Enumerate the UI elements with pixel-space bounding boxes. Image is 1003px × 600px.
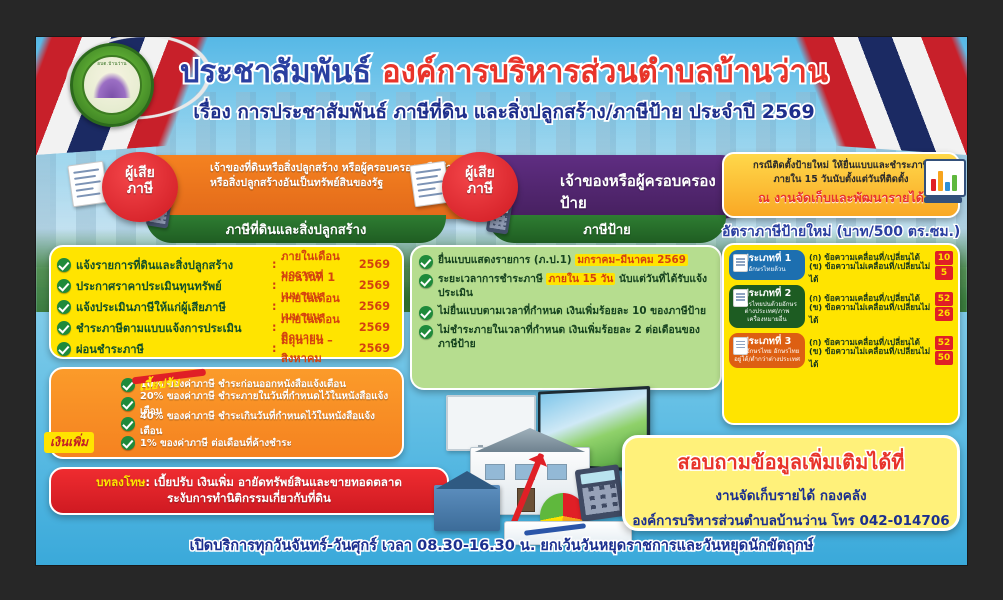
schedule-colon: : bbox=[272, 258, 281, 271]
schedule-row: ผ่อนชำระภาษี:มิถุนายน – สิงหาคม2569 bbox=[57, 338, 396, 359]
rate-row-label: (ข) ข้อความไม่เคลื่อนที่/เปลี่ยนไม่ได้ bbox=[809, 345, 932, 371]
rate-type-badge: ประเภทที่ 2อักษรไทยปนด้วยอักษรต่างประเทศ… bbox=[729, 285, 805, 328]
penalty-item: 40% ของค่าภาษี ชำระเกินวันที่กำหนดไว้ในห… bbox=[59, 414, 394, 434]
calculator-large-icon bbox=[575, 464, 626, 522]
signboard-rule-text: ระยะเวลาการชำระภาษี ภายใน 15 วัน นับแต่ว… bbox=[438, 273, 712, 301]
monitor-chart-icon bbox=[924, 159, 966, 197]
punishment-line1: : เบี้ยปรับ เงินเพิ่ม อายัดทรัพย์สินและข… bbox=[145, 475, 402, 489]
schedule-year: 2569 bbox=[352, 342, 396, 355]
rate-rows: (ก) ข้อความเคลื่อนที่/เปลี่ยนได้10(ข) ข้… bbox=[805, 250, 953, 280]
rate-row-value: 52 bbox=[935, 292, 953, 306]
rate-type-badge: ประเภทที่ 3ไม่มีอักษรไทย อักษรไทยอยู่ใต้… bbox=[729, 333, 805, 368]
rate-row-value: 52 bbox=[935, 336, 953, 350]
seal-text: อบต.บ้านว่าน bbox=[84, 60, 140, 67]
rate-type-subtitle: อักษรไทยล้วน bbox=[732, 266, 802, 274]
secondary-house-icon bbox=[434, 485, 500, 531]
check-icon bbox=[121, 397, 135, 411]
signboard-rule-text: ไม่ชำระภายในเวลาที่กำหนด เงินเพิ่มร้อยละ… bbox=[438, 324, 712, 352]
schedule-label: ชำระภาษีตามแบบแจ้งการประเมิน bbox=[76, 319, 272, 337]
punishment-tag: บทลงโทษ bbox=[96, 475, 145, 489]
rate-rows: (ก) ข้อความเคลื่อนที่/เปลี่ยนได้52(ข) ข้… bbox=[805, 333, 953, 368]
contact-box: สอบถามข้อมูลเพิ่มเติมได้ที่ งานจัดเก็บรา… bbox=[622, 435, 960, 531]
punishment-line2: ระงับการทำนิติกรรมเกี่ยวกับที่ดิน bbox=[167, 491, 331, 505]
rate-type-badge: ประเภทที่ 1อักษรไทยล้วน bbox=[729, 250, 805, 280]
signboard-rate-table: ประเภทที่ 1อักษรไทยล้วน(ก) ข้อความเคลื่อ… bbox=[722, 243, 960, 425]
schedule-colon: : bbox=[272, 279, 281, 292]
penalty-item-text: 1% ของค่าภาษี ต่อเดือนที่ค้างชำระ bbox=[140, 436, 292, 451]
rate-row-value: 26 bbox=[935, 307, 953, 321]
rate-row: (ข) ข้อความไม่เคลื่อนที่/เปลี่ยนไม่ได้50 bbox=[809, 350, 953, 365]
schedule-year: 2569 bbox=[352, 279, 396, 292]
schedule-label: แจ้งประเมินภาษีให้แก่ผู้เสียภาษี bbox=[76, 298, 272, 316]
rate-group: ประเภทที่ 1อักษรไทยล้วน(ก) ข้อความเคลื่อ… bbox=[729, 250, 953, 280]
taxpayer-label-signboard-line2: ภาษี bbox=[467, 181, 493, 197]
check-icon bbox=[121, 417, 135, 431]
poster-canvas: อบต.บ้านว่าน ประชาสัมพันธ์ องค์การบริหาร… bbox=[0, 0, 1003, 600]
check-icon bbox=[419, 325, 433, 339]
taxpayer-label-land: ผู้เสีย ภาษี bbox=[102, 152, 178, 222]
title-primary: ประชาสัมพันธ์ bbox=[180, 54, 371, 90]
check-icon bbox=[121, 436, 135, 450]
check-icon bbox=[419, 255, 433, 269]
notice-line-1: กรณีติดตั้งป้ายใหม่ ให้ยื่นแบบและชำระภาษ… bbox=[730, 159, 952, 173]
rate-row-label: (ข) ข้อความไม่เคลื่อนที่/เปลี่ยนไม่ได้ bbox=[809, 301, 932, 327]
schedule-colon: : bbox=[272, 342, 281, 355]
taxpayer-badge-signboard-text: เจ้าของหรือผู้ครอบครองป้าย bbox=[560, 171, 738, 215]
punishment-bar: บทลงโทษ: เบี้ยปรับ เงินเพิ่ม อายัดทรัพย์… bbox=[49, 467, 449, 515]
check-icon bbox=[57, 321, 71, 335]
municipality-seal-icon: อบต.บ้านว่าน bbox=[70, 43, 154, 127]
contact-line-2: องค์การบริหารส่วนตำบลบ้านว่าน โทร 042-01… bbox=[625, 509, 957, 531]
signboard-rule-text: ยื่นแบบแสดงรายการ (ภ.ป.1) มกราคม–มีนาคม … bbox=[438, 254, 688, 268]
penalty-panel: 10% ของค่าภาษี ชำระก่อนออกหนังสือแจ้งเตื… bbox=[49, 367, 404, 459]
check-icon bbox=[419, 306, 433, 320]
highlight-text: ภายใน 15 วัน bbox=[546, 273, 615, 285]
schedule-colon: : bbox=[272, 300, 281, 313]
schedule-label: ประกาศราคาประเมินทุนทรัพย์ bbox=[76, 277, 272, 295]
poster-header: อบต.บ้านว่าน ประชาสัมพันธ์ องค์การบริหาร… bbox=[36, 37, 967, 141]
tag-signboard-tax: ภาษีป้าย bbox=[488, 215, 726, 243]
tag-land-tax: ภาษีที่ดินและสิ่งปลูกสร้าง bbox=[146, 215, 446, 243]
schedule-value: มิถุนายน – สิงหาคม bbox=[281, 331, 352, 367]
signboard-rule-item: ยื่นแบบแสดงรายการ (ภ.ป.1) มกราคม–มีนาคม … bbox=[419, 254, 712, 269]
rate-group: ประเภทที่ 2อักษรไทยปนด้วยอักษรต่างประเทศ… bbox=[729, 285, 953, 328]
rate-row: (ข) ข้อความไม่เคลื่อนที่/เปลี่ยนไม่ได้5 bbox=[809, 265, 953, 280]
rate-row-value: 5 bbox=[935, 266, 953, 280]
schedule-label: ผ่อนชำระภาษี bbox=[76, 340, 272, 358]
penalty-surcharge-tag: เงินเพิ่ม bbox=[44, 432, 94, 453]
taxpayer-label-land-line1: ผู้เสีย bbox=[125, 165, 155, 181]
penalty-item-text: 40% ของค่าภาษี ชำระเกินวันที่กำหนดไว้ในห… bbox=[140, 409, 394, 439]
rate-row: (ข) ข้อความไม่เคลื่อนที่/เปลี่ยนไม่ได้26 bbox=[809, 306, 953, 321]
rate-rows: (ก) ข้อความเคลื่อนที่/เปลี่ยนได้52(ข) ข้… bbox=[805, 285, 953, 328]
taxpayer-label-land-line2: ภาษี bbox=[127, 181, 153, 197]
notice-line-2: ภายใน 15 วันนับตั้งแต่วันที่ติดตั้ง bbox=[730, 173, 952, 187]
rate-group: ประเภทที่ 3ไม่มีอักษรไทย อักษรไทยอยู่ใต้… bbox=[729, 333, 953, 368]
notice-line-3: ณ งานจัดเก็บและพัฒนารายได้ bbox=[730, 188, 952, 208]
signboard-rule-item: ระยะเวลาการชำระภาษี ภายใน 15 วัน นับแต่ว… bbox=[419, 273, 712, 301]
land-tax-schedule-panel: แจ้งรายการที่ดินและสิ่งปลูกสร้าง:ภายในเด… bbox=[49, 245, 404, 359]
check-icon bbox=[57, 258, 71, 272]
rate-table-header: อัตราภาษีป้ายใหม่ (บาท/500 ตร.ซม.) bbox=[722, 221, 960, 243]
schedule-year: 2569 bbox=[352, 321, 396, 334]
schedule-label: แจ้งรายการที่ดินและสิ่งปลูกสร้าง bbox=[76, 256, 272, 274]
signboard-rule-text: ไม่ยื่นแบบตามเวลาที่กำหนด เงินเพิ่มร้อยล… bbox=[438, 305, 706, 319]
rate-type-subtitle: ไม่มีอักษรไทย อักษรไทยอยู่ใต้/ต่ำกว่าต่า… bbox=[732, 348, 802, 364]
highlight-text: มกราคม–มีนาคม 2569 bbox=[575, 254, 688, 266]
check-icon bbox=[57, 300, 71, 314]
service-hours-footer: เปิดบริการทุกวันจันทร์-วันศุกร์ เวลา 08.… bbox=[36, 534, 967, 557]
page-title: ประชาสัมพันธ์ องค์การบริหารส่วนตำบลบ้านว… bbox=[154, 57, 854, 88]
taxpayer-label-signboard-line1: ผู้เสีย bbox=[465, 165, 495, 181]
contact-line-1: งานจัดเก็บรายได้ กองคลัง bbox=[625, 484, 957, 506]
check-icon bbox=[57, 342, 71, 356]
schedule-year: 2569 bbox=[352, 300, 396, 313]
contact-heading: สอบถามข้อมูลเพิ่มเติมได้ที่ bbox=[625, 446, 957, 478]
taxpayer-label-signboard: ผู้เสีย ภาษี bbox=[442, 152, 518, 222]
check-icon bbox=[57, 279, 71, 293]
signboard-rule-item: ไม่ชำระภายในเวลาที่กำหนด เงินเพิ่มร้อยละ… bbox=[419, 324, 712, 352]
page-subtitle: เรื่อง การประชาสัมพันธ์ ภาษีที่ดิน และสิ… bbox=[154, 97, 854, 127]
schedule-colon: : bbox=[272, 321, 281, 334]
check-icon bbox=[419, 274, 433, 288]
signboard-rule-item: ไม่ยื่นแบบตามเวลาที่กำหนด เงินเพิ่มร้อยล… bbox=[419, 305, 712, 320]
rate-row-value: 10 bbox=[935, 251, 953, 265]
signboard-tax-panel: ยื่นแบบแสดงรายการ (ภ.ป.1) มกราคม–มีนาคม … bbox=[410, 245, 722, 390]
title-organization: องค์การบริหารส่วนตำบลบ้านว่าน bbox=[382, 54, 828, 90]
rate-type-subtitle: อักษรไทยปนด้วยอักษรต่างประเทศ/ภาพเครื่อง… bbox=[732, 301, 802, 324]
rate-row-value: 50 bbox=[935, 351, 953, 365]
poster: อบต.บ้านว่าน ประชาสัมพันธ์ องค์การบริหาร… bbox=[36, 37, 967, 565]
rate-row-label: (ข) ข้อความไม่เคลื่อนที่/เปลี่ยนไม่ได้ bbox=[809, 260, 932, 286]
schedule-year: 2569 bbox=[352, 258, 396, 271]
